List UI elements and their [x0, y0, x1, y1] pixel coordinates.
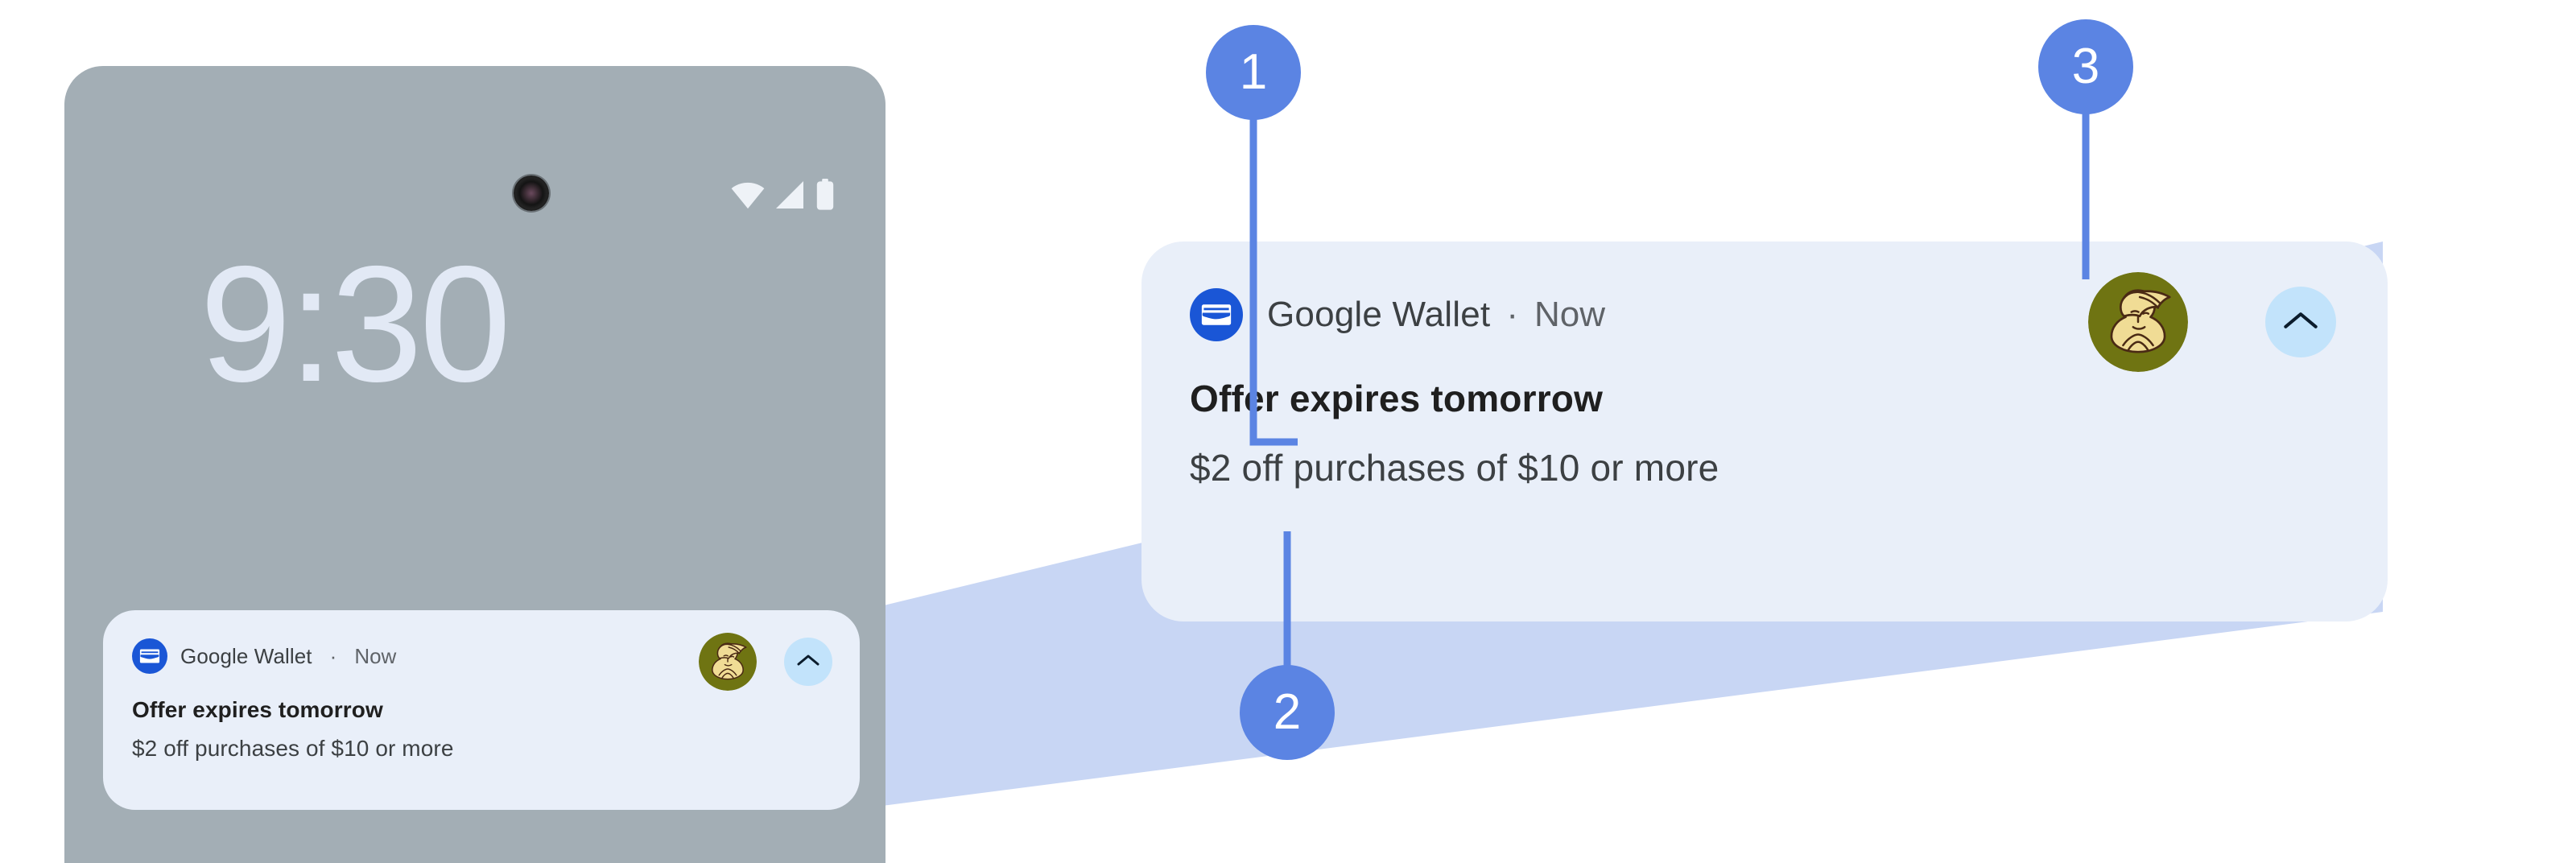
callout-badge-2[interactable]: 2 [1240, 665, 1335, 760]
leader-line-1 [1253, 113, 1298, 442]
callout-badge-3[interactable]: 3 [2038, 19, 2133, 114]
callout-badge-1[interactable]: 1 [1206, 25, 1301, 120]
screenshot-canvas: 9:30 Google Wallet · Now Offer expires t… [0, 0, 2576, 863]
